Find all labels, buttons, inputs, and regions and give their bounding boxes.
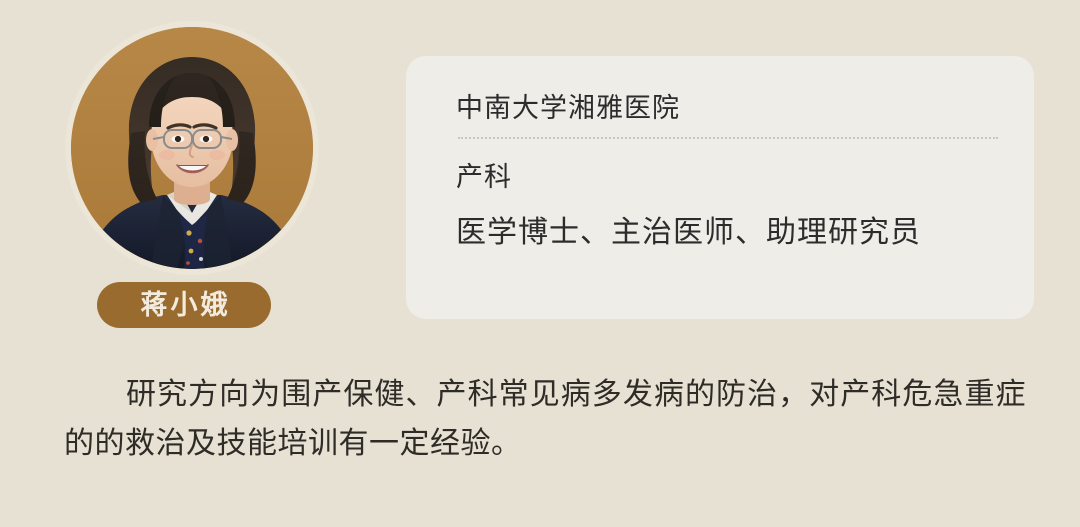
doctor-profile-page: 蒋小娥 中南大学湘雅医院 产科 医学博士、主治医师、助理研究员 研究方向为围产保… xyxy=(0,0,1080,527)
info-card: 中南大学湘雅医院 产科 医学博士、主治医师、助理研究员 xyxy=(406,56,1034,319)
doctor-portrait-photo-icon xyxy=(71,27,313,269)
department-name: 产科 xyxy=(456,161,990,195)
avatar-block: 蒋小娥 xyxy=(68,24,316,329)
avatar xyxy=(71,27,313,269)
name-badge: 蒋小娥 xyxy=(97,282,271,328)
doctor-name: 蒋小娥 xyxy=(138,292,231,319)
biography-paragraph: 研究方向为围产保健、产科常见病多发病的防治，对产科危急重症的的救治及技能培训有一… xyxy=(64,371,1026,468)
card-divider xyxy=(458,137,998,139)
professional-titles: 医学博士、主治医师、助理研究员 xyxy=(456,214,990,252)
hospital-name: 中南大学湘雅医院 xyxy=(456,92,990,137)
